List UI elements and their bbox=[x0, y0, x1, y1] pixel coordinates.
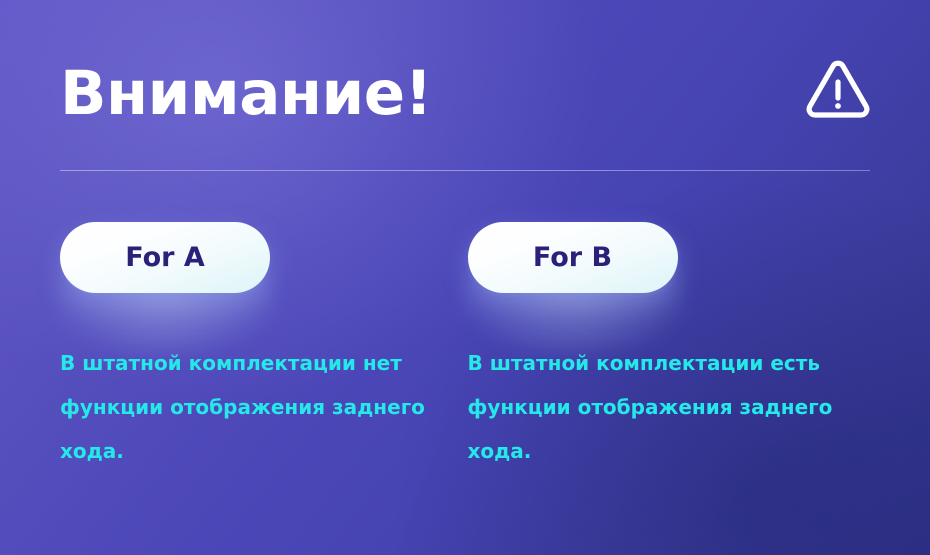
header-divider bbox=[60, 170, 870, 171]
columns-container: For A В штатной комплектации нет функции… bbox=[60, 222, 875, 473]
pill-label-for-b: For B bbox=[533, 242, 612, 273]
pill-wrap-for-a: For A bbox=[60, 222, 270, 293]
page-title: Внимание! bbox=[60, 52, 432, 136]
slide-root: Внимание! For A В штатной комплектации н… bbox=[0, 0, 930, 555]
warning-triangle-icon bbox=[806, 60, 870, 120]
pill-label-for-a: For A bbox=[125, 242, 205, 273]
pill-button-for-a[interactable]: For A bbox=[60, 222, 270, 293]
column-for-b: For B В штатной комплектации есть функци… bbox=[468, 222, 876, 473]
pill-button-for-b[interactable]: For B bbox=[468, 222, 678, 293]
column-for-a: For A В штатной комплектации нет функции… bbox=[60, 222, 468, 473]
pill-wrap-for-b: For B bbox=[468, 222, 678, 293]
header: Внимание! bbox=[60, 52, 870, 136]
body-text-for-b: В штатной комплектации есть функции отоб… bbox=[468, 293, 868, 473]
body-text-for-a: В штатной комплектации нет функции отобр… bbox=[60, 293, 450, 473]
